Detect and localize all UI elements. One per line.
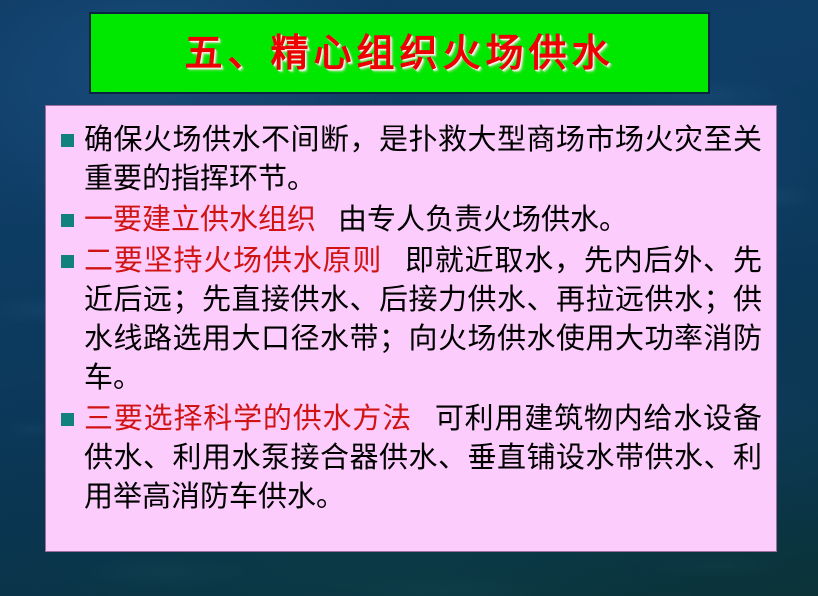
bullet-item-4-text: 三要选择科学的供水方法可利用建筑物内给水设备供水、利用水泵接合器供水、垂直铺设水… [84, 399, 762, 516]
bullet-item-2-text: 一要建立供水组织由专人负责火场供水。 [84, 200, 762, 239]
bullet-item-2: 一要建立供水组织由专人负责火场供水。 [56, 200, 762, 239]
bullet-item-4-lead: 三要选择科学的供水方法 [84, 401, 412, 435]
square-bullet-icon [61, 413, 74, 426]
slide-content-panel: 确保火场供水不间断，是扑救大型商场市场火灾至关重要的指挥环节。 一要建立供水组织… [45, 105, 777, 552]
bullet-item-1-text: 确保火场供水不间断，是扑救大型商场市场火灾至关重要的指挥环节。 [84, 120, 762, 198]
bullet-item-3-text: 二要坚持火场供水原则即就近取水，先内后外、先近后远；先直接供水、后接力供水、再拉… [84, 241, 762, 397]
bullet-item-1-body: 确保火场供水不间断，是扑救大型商场市场火灾至关重要的指挥环节。 [84, 122, 762, 195]
square-bullet-icon [61, 214, 74, 227]
bullet-item-2-body: 由专人负责火场供水。 [338, 202, 628, 236]
presentation-slide: 五、精心组织火场供水 确保火场供水不间断，是扑救大型商场市场火灾至关重要的指挥环… [0, 0, 818, 596]
slide-title: 五、精心组织火场供水 [184, 34, 614, 72]
bullet-item-1: 确保火场供水不间断，是扑救大型商场市场火灾至关重要的指挥环节。 [56, 120, 762, 198]
bullet-item-4: 三要选择科学的供水方法可利用建筑物内给水设备供水、利用水泵接合器供水、垂直铺设水… [56, 399, 762, 516]
bullet-item-3-lead: 二要坚持火场供水原则 [84, 243, 382, 277]
bullet-item-3: 二要坚持火场供水原则即就近取水，先内后外、先近后远；先直接供水、后接力供水、再拉… [56, 241, 762, 397]
bullet-item-2-lead: 一要建立供水组织 [84, 202, 316, 236]
square-bullet-icon [61, 134, 74, 147]
square-bullet-icon [61, 255, 74, 268]
slide-title-banner: 五、精心组织火场供水 [89, 12, 710, 94]
